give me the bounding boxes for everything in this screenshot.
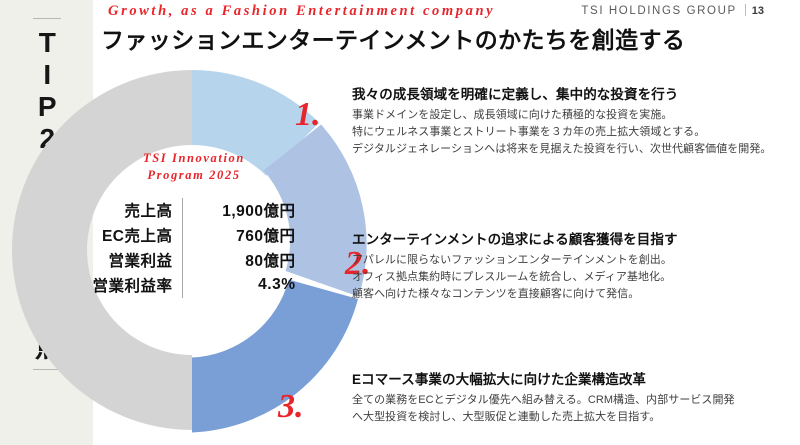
block-3-body: 全ての業務をECとデジタル優先へ組み替える。CRM構造、内部サービス開発 へ大型… [352,392,800,425]
block-1-line-3: デジタルジェネレーションへは将来を見据えた投資を行い、次世代顧客価値を開発。 [352,141,800,158]
sidebar-rule-top [33,18,61,19]
donut-segment-3 [192,280,358,433]
content-block-2: エンターテインメントの追求による顧客獲得を目指す アパレルに限らないファッション… [352,231,800,302]
content-block-1: 我々の成長領域を明確に定義し、集中的な投資を行う 事業ドメインを設定し、成長領域… [352,86,800,157]
block-2-body: アパレルに限らないファッションエンターテインメントを創出。 オフィス拠点集約時に… [352,252,800,302]
block-2-line-1: アパレルに限らないファッションエンターテインメントを創出。 [352,252,800,269]
block-2-line-2: オフィス拠点集約時にプレスルームを統合し、メディア基地化。 [352,269,800,286]
block-2-line-3: 顧客へ向けた様々なコンテンツを直接顧客に向けて発信。 [352,286,800,303]
block-3-line-2: へ大型投資を検討し、大型販促と連動した売上拡大を目指す。 [352,409,800,426]
page-divider [745,4,746,16]
brand-logo: TSI HOLDINGS GROUP13 [581,4,764,17]
block-1-body: 事業ドメインを設定し、成長領域に向けた積極的な投資を実施。 特にウェルネス事業と… [352,107,800,157]
block-1-line-2: 特にウェルネス事業とストリート事業を３カ年の売上拡大領域とする。 [352,124,800,141]
block-3-line-1: 全ての業務をECとデジタル優先へ組み替える。CRM構造、内部サービス開発 [352,392,800,409]
page-number: 13 [752,5,764,17]
donut-segment-remainder [12,70,192,430]
donut-svg [2,60,382,445]
slide-canvas: TIP25目標値の論点 TSI HOLDINGS GROUP13 Growth,… [0,0,800,445]
brand-name: TSI HOLDINGS GROUP [581,5,736,17]
block-1-line-1: 事業ドメインを設定し、成長領域に向けた積極的な投資を実施。 [352,107,800,124]
marker-number-3: 3. [278,390,304,424]
donut-chart: TSI Innovation Program 2025 売上高 1,900億円 … [2,60,382,445]
marker-number-1: 1. [295,98,321,132]
content-block-3: Eコマース事業の大幅拡大に向けた企業構造改革 全ての業務をECとデジタル優先へ組… [352,371,800,426]
slide-eyebrow: Growth, as a Fashion Entertainment compa… [108,3,495,20]
block-3-title: Eコマース事業の大幅拡大に向けた企業構造改革 [352,371,800,389]
page-title: ファッションエンターテインメントのかたちを創造する [101,21,685,55]
block-2-title: エンターテインメントの追求による顧客獲得を目指す [352,231,800,249]
block-1-title: 我々の成長領域を明確に定義し、集中的な投資を行う [352,86,800,104]
